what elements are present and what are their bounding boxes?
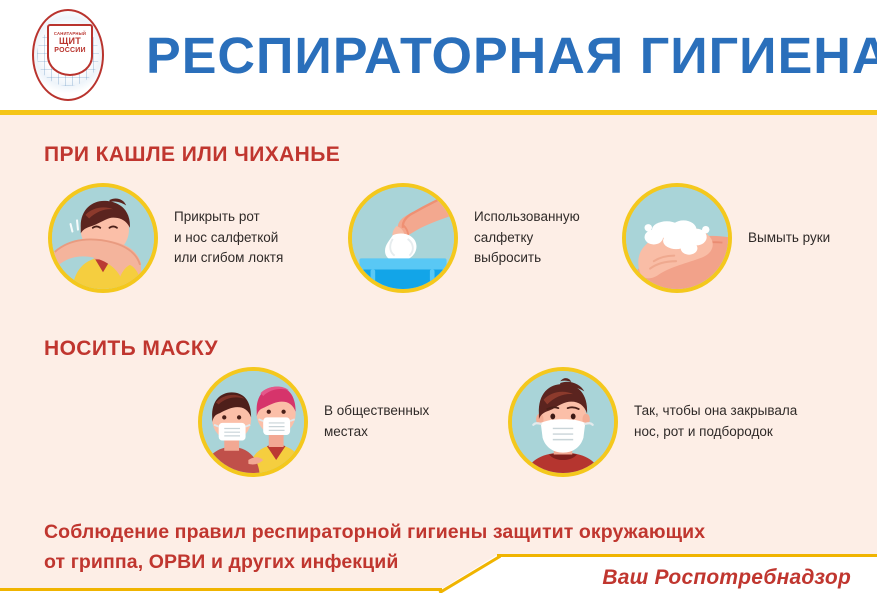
- sanitary-shield-logo: САНИТАРНЫЙ ЩИТ РОССИИ: [22, 7, 118, 103]
- illustration-boy-coughing-into-elbow: [48, 183, 158, 293]
- shield-icon: САНИТАРНЫЙ ЩИТ РОССИИ: [47, 24, 93, 76]
- poster-header: САНИТАРНЫЙ ЩИТ РОССИИ РЕСПИРАТОРНАЯ ГИГИ…: [0, 0, 877, 110]
- footer-signature: Ваш Роспотребнадзор: [602, 566, 851, 590]
- logo-line-3: РОССИИ: [54, 47, 85, 55]
- logo-line-2: ЩИТ: [59, 36, 81, 46]
- caption-masks-in-public: В общественных местах: [324, 401, 429, 443]
- item-cover-mouth: Прикрыть рот и нос салфеткой или сгибом …: [48, 183, 283, 293]
- illustration-hands-washing-with-soap: [622, 183, 732, 293]
- respiratory-hygiene-poster: САНИТАРНЫЙ ЩИТ РОССИИ РЕСПИРАТОРНАЯ ГИГИ…: [0, 0, 877, 607]
- item-masks-in-public: В общественных местах: [198, 367, 429, 477]
- caption-cover-mouth: Прикрыть рот и нос салфеткой или сгибом …: [174, 207, 283, 270]
- item-discard-tissue: Использованную салфетку выбросить: [348, 183, 580, 293]
- item-mask-covers-nose-mouth-chin: Так, чтобы она закрывала нос, рот и подб…: [508, 367, 797, 477]
- caption-wash-hands: Вымыть руки: [748, 228, 830, 249]
- footer-diagonal-accent: [437, 553, 501, 593]
- poster-body: ПРИ КАШЛЕ ИЛИ ЧИХАНЬЕ: [0, 115, 877, 607]
- caption-mask-covers-nose-mouth-chin: Так, чтобы она закрывала нос, рот и подб…: [634, 401, 797, 443]
- page-title: РЕСПИРАТОРНАЯ ГИГИЕНА: [146, 30, 877, 81]
- section-heading-wear-mask: НОСИТЬ МАСКУ: [44, 337, 218, 361]
- illustration-two-people-wearing-masks: [198, 367, 308, 477]
- item-wash-hands: Вымыть руки: [622, 183, 830, 293]
- illustration-hand-dropping-tissue-into-bin: [348, 183, 458, 293]
- caption-discard-tissue: Использованную салфетку выбросить: [474, 207, 580, 270]
- illustration-person-wearing-mask-correctly: [508, 367, 618, 477]
- section-heading-coughing: ПРИ КАШЛЕ ИЛИ ЧИХАНЬЕ: [44, 143, 340, 167]
